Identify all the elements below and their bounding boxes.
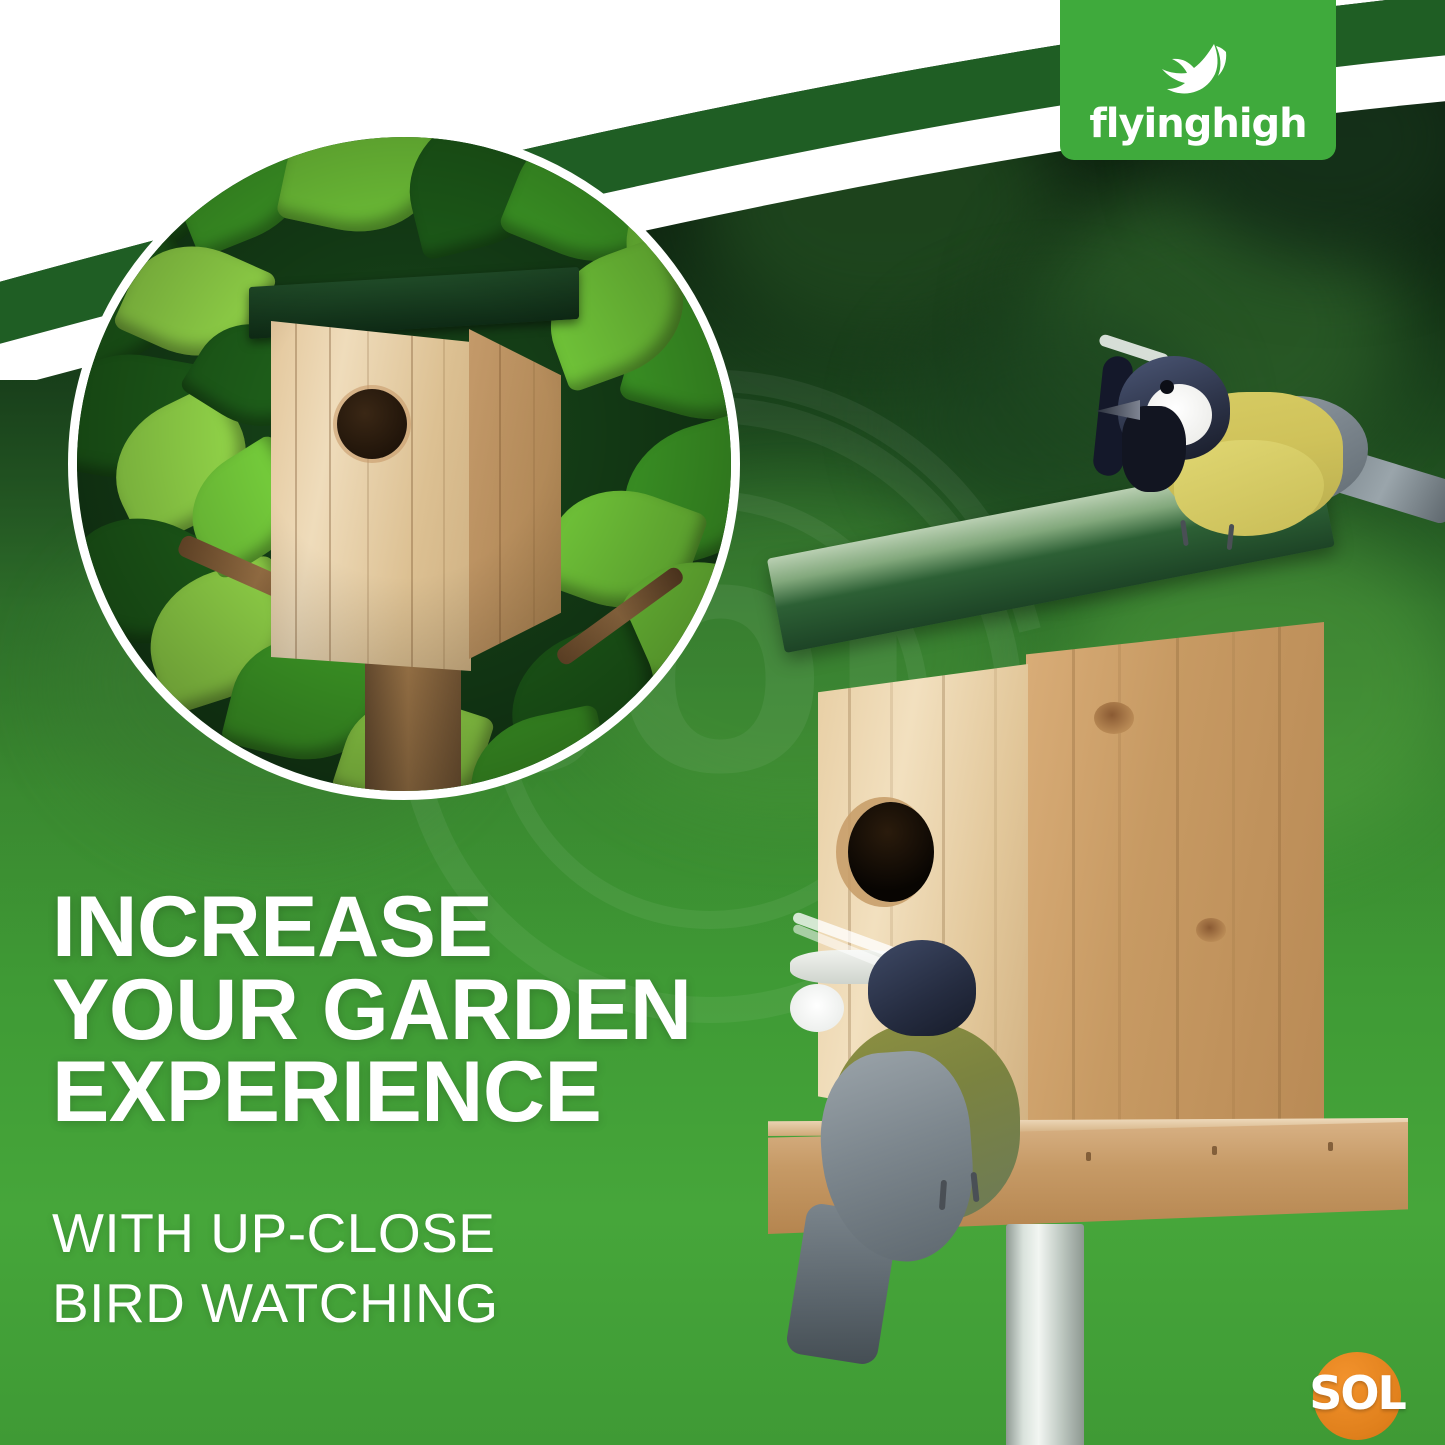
page-subtitle: WITH UP-CLOSE BIRD WATCHING — [52, 1198, 812, 1339]
brand-name: flyinghigh — [1089, 104, 1306, 144]
page-title: INCREASE YOUR GARDEN EXPERIENCE — [52, 886, 872, 1134]
subheadline-line-2: BIRD WATCHING — [52, 1268, 812, 1338]
great-tit-on-roof — [1098, 344, 1445, 594]
subheadline-line-1: WITH UP-CLOSE — [52, 1198, 812, 1268]
bird-head — [868, 940, 976, 1036]
sol-logo-badge[interactable]: SOL — [1305, 1348, 1409, 1445]
wood-knot — [1196, 918, 1226, 942]
flyinghigh-logo-badge[interactable]: flyinghigh — [1060, 0, 1336, 160]
headline-line-2: YOUR GARDEN — [52, 969, 872, 1052]
inset-photo-birdhouse — [68, 128, 740, 800]
bird-bib — [1122, 406, 1186, 492]
bird-foot — [1180, 520, 1189, 546]
bird-eye — [1160, 380, 1174, 394]
headline-line-3: EXPERIENCE — [52, 1051, 872, 1134]
sol-text: SOL — [1299, 1370, 1415, 1416]
flying-bird-icon — [1148, 40, 1248, 102]
headline-line-1: INCREASE — [52, 886, 872, 969]
wood-knot — [1094, 702, 1134, 734]
product-banner: SOL — [0, 0, 1445, 1445]
inset-vignette — [77, 137, 731, 791]
